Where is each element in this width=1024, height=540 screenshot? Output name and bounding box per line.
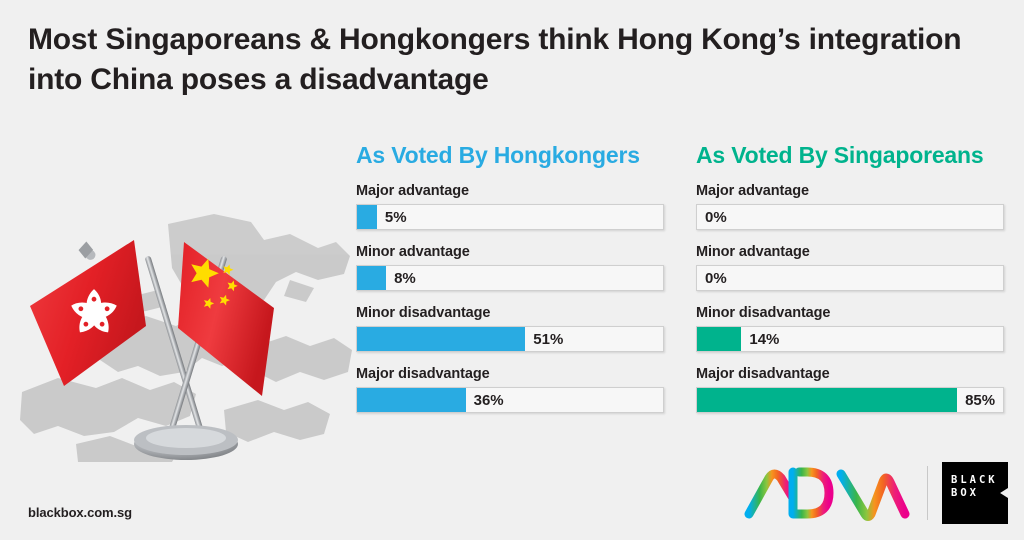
- bar-value: 85%: [957, 388, 995, 413]
- bar-group: Minor advantage 8%: [356, 244, 664, 291]
- bar-track: 0%: [696, 265, 1004, 291]
- bar-track: 8%: [356, 265, 664, 291]
- bar-group: Major advantage 5%: [356, 183, 664, 230]
- bar-track: 51%: [356, 326, 664, 352]
- bar-fill: [357, 388, 466, 412]
- chart-column-hongkongers: As Voted By Hongkongers Major advantage …: [356, 142, 664, 427]
- chart-column-singaporeans: As Voted By Singaporeans Major advantage…: [696, 142, 1004, 427]
- bar-label: Major disadvantage: [356, 366, 664, 382]
- bar-group: Minor advantage 0%: [696, 244, 1004, 291]
- bar-label: Minor advantage: [696, 244, 1004, 260]
- bar-value: 5%: [377, 205, 407, 230]
- bar-group: Major advantage 0%: [696, 183, 1004, 230]
- logo-divider: [927, 466, 928, 520]
- bar-fill: [357, 266, 386, 290]
- bar-track: 85%: [696, 387, 1004, 413]
- bar-label: Major advantage: [696, 183, 1004, 199]
- adva-logo: [741, 464, 913, 522]
- bar-label: Major advantage: [356, 183, 664, 199]
- bar-label: Major disadvantage: [696, 366, 1004, 382]
- bar-label: Minor disadvantage: [356, 305, 664, 321]
- site-url[interactable]: blackbox.com.sg: [28, 505, 132, 520]
- bar-track: 5%: [356, 204, 664, 230]
- column-title-singaporeans: As Voted By Singaporeans: [696, 142, 1004, 169]
- bar-track: 36%: [356, 387, 664, 413]
- bar-group: Minor disadvantage 51%: [356, 305, 664, 352]
- bar-track: 0%: [696, 204, 1004, 230]
- bar-group: Major disadvantage 36%: [356, 366, 664, 413]
- page-title: Most Singaporeans & Hongkongers think Ho…: [28, 20, 978, 99]
- blackbox-logo-text: BLACK BOX: [951, 474, 998, 500]
- column-title-hongkongers: As Voted By Hongkongers: [356, 142, 664, 169]
- bar-fill: [357, 327, 525, 351]
- blackbox-logo-line1: BLACK: [951, 474, 998, 487]
- bar-label: Minor advantage: [356, 244, 664, 260]
- bar-value: 51%: [525, 327, 563, 352]
- hong-kong-china-flags-illustration: [18, 196, 354, 462]
- blackbox-logo: BLACK BOX: [942, 462, 1008, 524]
- bar-value: 14%: [741, 327, 779, 352]
- logo-row: BLACK BOX: [741, 458, 1008, 528]
- bar-value: 8%: [386, 266, 416, 291]
- bar-fill: [697, 327, 741, 351]
- bar-value: 0%: [697, 205, 727, 230]
- bar-fill: [357, 205, 377, 229]
- bar-fill: [697, 388, 957, 412]
- bar-value: 36%: [466, 388, 504, 413]
- bar-group: Minor disadvantage 14%: [696, 305, 1004, 352]
- bar-track: 14%: [696, 326, 1004, 352]
- blackbox-logo-line2: BOX: [951, 487, 998, 500]
- bar-label: Minor disadvantage: [696, 305, 1004, 321]
- bar-value: 0%: [697, 266, 727, 291]
- flag-stand-base: [134, 425, 238, 460]
- bar-group: Major disadvantage 85%: [696, 366, 1004, 413]
